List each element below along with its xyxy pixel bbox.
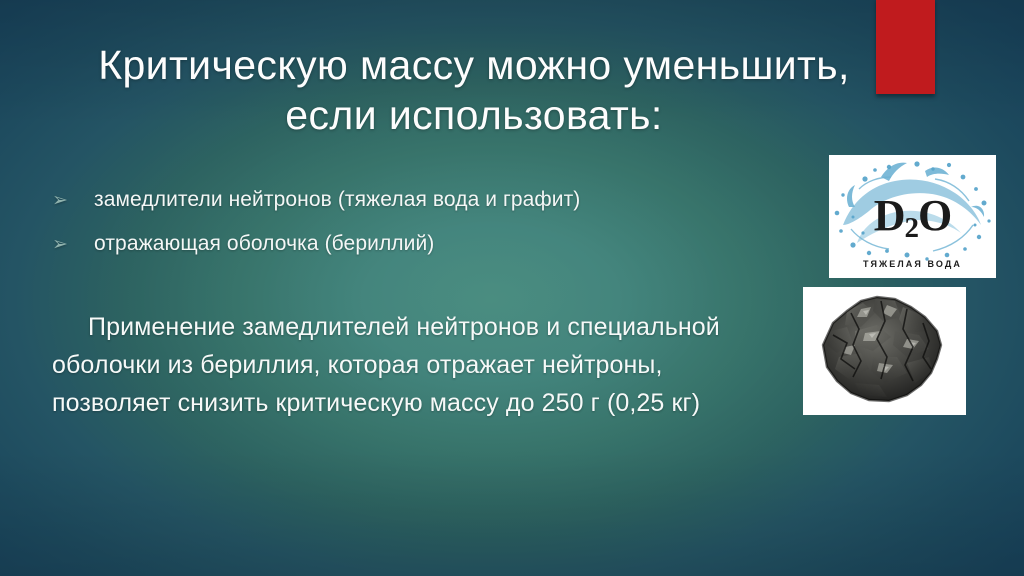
- graphite-rock-graphic: [803, 287, 966, 415]
- bullet-list: ➢ замедлители нейтронов (тяжелая вода и …: [52, 186, 812, 274]
- red-accent-bar: [876, 0, 935, 94]
- presentation-slide: Критическую массу можно уменьшить, если …: [0, 0, 1024, 576]
- heavy-water-d2o-image: D2O ТЯЖЕЛАЯ ВОДА: [829, 155, 996, 278]
- d2o-formula-text: D2O: [829, 193, 996, 251]
- bullet-item-label: отражающая оболочка (бериллий): [94, 230, 812, 258]
- slide-title: Критическую массу можно уменьшить, если …: [96, 40, 852, 140]
- bullet-item-label: замедлители нейтронов (тяжелая вода и гр…: [94, 186, 812, 214]
- body-paragraph: Применение замедлителей нейтронов и спец…: [52, 308, 752, 422]
- d2o-formula-subscript: 2: [905, 212, 919, 244]
- arrow-bullet-icon: ➢: [52, 232, 94, 258]
- graphite-sample-image: [803, 287, 966, 415]
- d2o-caption-text: ТЯЖЕЛАЯ ВОДА: [829, 259, 996, 269]
- list-item: ➢ замедлители нейтронов (тяжелая вода и …: [52, 186, 812, 214]
- arrow-bullet-icon: ➢: [52, 188, 94, 214]
- list-item: ➢ отражающая оболочка (бериллий): [52, 230, 812, 258]
- d2o-formula-tail: O: [918, 191, 951, 240]
- d2o-formula-main: D: [874, 191, 905, 240]
